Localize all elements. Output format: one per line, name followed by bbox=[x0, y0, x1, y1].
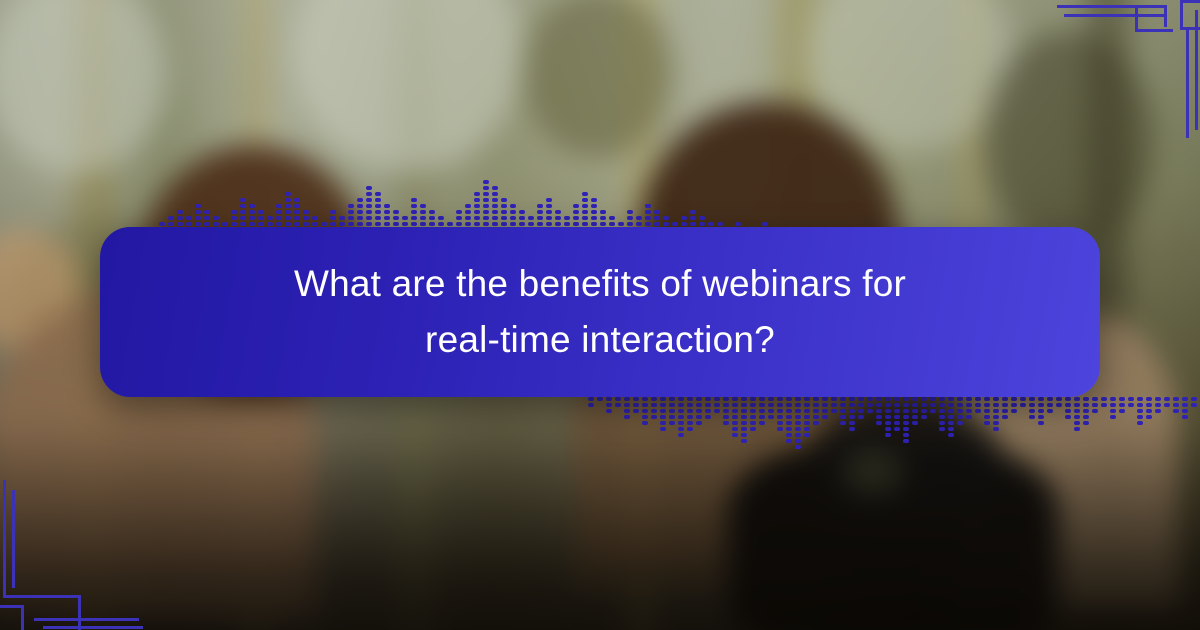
waveform-dot bbox=[741, 427, 747, 431]
waveform-dot bbox=[555, 222, 561, 226]
waveform-dot bbox=[600, 210, 606, 214]
waveform-dot bbox=[1128, 403, 1134, 407]
waveform-dot bbox=[966, 403, 972, 407]
waveform-dot bbox=[669, 409, 675, 413]
waveform-dot bbox=[642, 409, 648, 413]
waveform-dot bbox=[597, 397, 603, 401]
waveform-dot bbox=[591, 210, 597, 214]
waveform-dot bbox=[939, 403, 945, 407]
waveform-column bbox=[813, 397, 819, 425]
waveform-column bbox=[993, 397, 999, 431]
waveform-dot bbox=[195, 222, 201, 226]
waveform-dot bbox=[627, 222, 633, 226]
waveform-dot bbox=[1065, 397, 1071, 401]
waveform-dot bbox=[777, 415, 783, 419]
waveform-dot bbox=[903, 427, 909, 431]
waveform-dot bbox=[768, 397, 774, 401]
waveform-dot bbox=[717, 222, 723, 226]
waveform-dot bbox=[555, 210, 561, 214]
waveform-dot bbox=[678, 427, 684, 431]
waveform-dot bbox=[366, 216, 372, 220]
waveform-dot bbox=[786, 421, 792, 425]
waveform-dot bbox=[294, 210, 300, 214]
waveform-dot bbox=[429, 222, 435, 226]
waveform-column bbox=[876, 397, 882, 425]
waveform-dot bbox=[1155, 397, 1161, 401]
waveform-dot bbox=[687, 409, 693, 413]
waveform-dot bbox=[1119, 409, 1125, 413]
waveform-column bbox=[1191, 397, 1197, 407]
waveform-dot bbox=[249, 210, 255, 214]
waveform-dot bbox=[777, 403, 783, 407]
waveform-dot bbox=[564, 216, 570, 220]
waveform-dot bbox=[357, 216, 363, 220]
waveform-dot bbox=[1047, 409, 1053, 413]
waveform-dot bbox=[1110, 415, 1116, 419]
waveform-dot bbox=[966, 409, 972, 413]
waveform-dot bbox=[669, 421, 675, 425]
waveform-dot bbox=[660, 403, 666, 407]
waveform-dot bbox=[741, 421, 747, 425]
waveform-dot bbox=[492, 210, 498, 214]
waveform-dot bbox=[1002, 415, 1008, 419]
waveform-dot bbox=[375, 198, 381, 202]
waveform-dot bbox=[822, 403, 828, 407]
waveform-dot bbox=[687, 421, 693, 425]
frame-line-vertical bbox=[1195, 10, 1198, 130]
waveform-dot bbox=[591, 198, 597, 202]
waveform-dot bbox=[546, 222, 552, 226]
waveform-dot bbox=[822, 409, 828, 413]
frame-line-horizontal bbox=[1064, 14, 1167, 17]
waveform-column bbox=[375, 192, 381, 232]
waveform-dot bbox=[660, 397, 666, 401]
frame-line-vertical bbox=[3, 480, 6, 598]
waveform-dot bbox=[921, 403, 927, 407]
waveform-dot bbox=[750, 409, 756, 413]
waveform-dot bbox=[750, 403, 756, 407]
waveform-dot bbox=[939, 421, 945, 425]
waveform-dot bbox=[858, 403, 864, 407]
waveform-dot bbox=[186, 222, 192, 226]
waveform-dot bbox=[1029, 415, 1035, 419]
waveform-dot bbox=[384, 216, 390, 220]
waveform-dot bbox=[402, 222, 408, 226]
waveform-column bbox=[1038, 397, 1044, 425]
waveform-column bbox=[867, 397, 873, 413]
waveform-column bbox=[705, 397, 711, 419]
waveform-column bbox=[615, 397, 621, 407]
waveform-dot bbox=[375, 222, 381, 226]
waveform-dot bbox=[411, 198, 417, 202]
waveform-dot bbox=[663, 222, 669, 226]
waveform-dot bbox=[1083, 421, 1089, 425]
waveform-column bbox=[750, 397, 756, 431]
waveform-dot bbox=[1146, 415, 1152, 419]
audio-waveform-top bbox=[150, 142, 795, 232]
frame-line-vertical bbox=[1186, 28, 1189, 138]
waveform-dot bbox=[948, 433, 954, 437]
waveform-dot bbox=[420, 210, 426, 214]
waveform-dot bbox=[885, 409, 891, 413]
waveform-dot bbox=[768, 415, 774, 419]
waveform-column bbox=[588, 397, 594, 407]
waveform-dot bbox=[501, 222, 507, 226]
waveform-dot bbox=[624, 409, 630, 413]
waveform-dot bbox=[582, 192, 588, 196]
waveform-dot bbox=[204, 210, 210, 214]
waveform-dot bbox=[804, 403, 810, 407]
waveform-dot bbox=[1119, 403, 1125, 407]
waveform-dot bbox=[723, 415, 729, 419]
waveform-dot bbox=[312, 222, 318, 226]
waveform-dot bbox=[1173, 403, 1179, 407]
waveform-dot bbox=[939, 397, 945, 401]
waveform-dot bbox=[759, 397, 765, 401]
waveform-dot bbox=[984, 403, 990, 407]
waveform-dot bbox=[492, 186, 498, 190]
waveform-dot bbox=[510, 222, 516, 226]
waveform-dot bbox=[168, 216, 174, 220]
question-line-2: real-time interaction? bbox=[425, 319, 775, 360]
waveform-dot bbox=[750, 421, 756, 425]
waveform-dot bbox=[786, 415, 792, 419]
waveform-column bbox=[687, 397, 693, 431]
waveform-dot bbox=[285, 222, 291, 226]
waveform-dot bbox=[1020, 397, 1026, 401]
waveform-dot bbox=[894, 427, 900, 431]
waveform-column bbox=[768, 397, 774, 419]
waveform-dot bbox=[885, 415, 891, 419]
waveform-dot bbox=[642, 403, 648, 407]
waveform-dot bbox=[903, 403, 909, 407]
waveform-column bbox=[921, 397, 927, 419]
waveform-dot bbox=[786, 433, 792, 437]
waveform-dot bbox=[474, 198, 480, 202]
waveform-dot bbox=[231, 216, 237, 220]
waveform-dot bbox=[690, 216, 696, 220]
waveform-dot bbox=[591, 204, 597, 208]
waveform-dot bbox=[741, 433, 747, 437]
waveform-dot bbox=[681, 216, 687, 220]
waveform-dot bbox=[732, 409, 738, 413]
waveform-column bbox=[1002, 397, 1008, 419]
waveform-dot bbox=[813, 415, 819, 419]
frame-square bbox=[0, 605, 24, 630]
waveform-dot bbox=[669, 415, 675, 419]
waveform-column bbox=[1074, 397, 1080, 431]
waveform-dot bbox=[903, 421, 909, 425]
frame-line-horizontal bbox=[1135, 29, 1173, 32]
waveform-column bbox=[894, 397, 900, 431]
waveform-dot bbox=[705, 415, 711, 419]
waveform-dot bbox=[1002, 403, 1008, 407]
waveform-dot bbox=[1074, 397, 1080, 401]
waveform-dot bbox=[537, 216, 543, 220]
waveform-column bbox=[903, 397, 909, 443]
waveform-dot bbox=[1164, 397, 1170, 401]
waveform-dot bbox=[537, 210, 543, 214]
waveform-dot bbox=[660, 409, 666, 413]
waveform-dot bbox=[645, 210, 651, 214]
waveform-dot bbox=[492, 198, 498, 202]
waveform-dot bbox=[885, 421, 891, 425]
waveform-dot bbox=[948, 427, 954, 431]
waveform-dot bbox=[993, 421, 999, 425]
waveform-dot bbox=[984, 409, 990, 413]
waveform-dot bbox=[1047, 397, 1053, 401]
frame-line-vertical bbox=[12, 490, 15, 588]
waveform-dot bbox=[705, 403, 711, 407]
waveform-dot bbox=[1083, 409, 1089, 413]
waveform-dot bbox=[606, 397, 612, 401]
waveform-column bbox=[804, 397, 810, 437]
waveform-dot bbox=[786, 403, 792, 407]
waveform-dot bbox=[867, 403, 873, 407]
waveform-dot bbox=[930, 403, 936, 407]
waveform-dot bbox=[546, 204, 552, 208]
waveform-dot bbox=[465, 210, 471, 214]
waveform-dot bbox=[483, 210, 489, 214]
waveform-dot bbox=[501, 210, 507, 214]
waveform-dot bbox=[642, 397, 648, 401]
waveform-dot bbox=[474, 192, 480, 196]
waveform-dot bbox=[750, 415, 756, 419]
waveform-dot bbox=[177, 216, 183, 220]
waveform-dot bbox=[849, 427, 855, 431]
waveform-column bbox=[885, 397, 891, 437]
waveform-column bbox=[366, 186, 372, 232]
waveform-dot bbox=[240, 216, 246, 220]
waveform-dot bbox=[1146, 409, 1152, 413]
waveform-dot bbox=[258, 222, 264, 226]
waveform-dot bbox=[687, 415, 693, 419]
waveform-dot bbox=[786, 427, 792, 431]
waveform-dot bbox=[1083, 415, 1089, 419]
waveform-dot bbox=[1182, 415, 1188, 419]
waveform-dot bbox=[696, 403, 702, 407]
waveform-dot bbox=[939, 427, 945, 431]
waveform-dot bbox=[831, 409, 837, 413]
waveform-dot bbox=[651, 397, 657, 401]
waveform-dot bbox=[267, 216, 273, 220]
waveform-dot bbox=[600, 222, 606, 226]
waveform-column bbox=[1128, 397, 1134, 407]
waveform-dot bbox=[330, 210, 336, 214]
waveform-dot bbox=[660, 421, 666, 425]
waveform-column bbox=[1029, 397, 1035, 419]
waveform-dot bbox=[1029, 409, 1035, 413]
waveform-dot bbox=[519, 216, 525, 220]
waveform-column bbox=[678, 397, 684, 437]
waveform-dot bbox=[633, 409, 639, 413]
waveform-dot bbox=[357, 198, 363, 202]
waveform-dot bbox=[366, 198, 372, 202]
waveform-dot bbox=[1047, 403, 1053, 407]
waveform-dot bbox=[384, 204, 390, 208]
waveform-dot bbox=[357, 222, 363, 226]
waveform-dot bbox=[993, 427, 999, 431]
waveform-dot bbox=[1101, 397, 1107, 401]
waveform-dot bbox=[867, 397, 873, 401]
waveform-dot bbox=[696, 397, 702, 401]
waveform-dot bbox=[537, 204, 543, 208]
waveform-dot bbox=[1083, 403, 1089, 407]
waveform-dot bbox=[795, 397, 801, 401]
waveform-dot bbox=[939, 415, 945, 419]
waveform-dot bbox=[438, 222, 444, 226]
waveform-dot bbox=[177, 222, 183, 226]
waveform-dot bbox=[642, 421, 648, 425]
waveform-dot bbox=[492, 204, 498, 208]
waveform-dot bbox=[894, 415, 900, 419]
waveform-dot bbox=[1182, 397, 1188, 401]
waveform-dot bbox=[804, 433, 810, 437]
waveform-dot bbox=[456, 222, 462, 226]
waveform-column bbox=[606, 397, 612, 413]
waveform-dot bbox=[645, 222, 651, 226]
waveform-dot bbox=[687, 403, 693, 407]
waveform-dot bbox=[633, 397, 639, 401]
waveform-dot bbox=[804, 427, 810, 431]
waveform-dot bbox=[591, 216, 597, 220]
waveform-dot bbox=[1074, 415, 1080, 419]
waveform-dot bbox=[786, 409, 792, 413]
waveform-dot bbox=[483, 186, 489, 190]
waveform-dot bbox=[849, 421, 855, 425]
waveform-dot bbox=[195, 204, 201, 208]
waveform-dot bbox=[357, 210, 363, 214]
waveform-dot bbox=[573, 210, 579, 214]
waveform-column bbox=[759, 397, 765, 425]
waveform-dot bbox=[1074, 403, 1080, 407]
waveform-dot bbox=[840, 403, 846, 407]
waveform-dot bbox=[672, 222, 678, 226]
waveform-dot bbox=[249, 222, 255, 226]
waveform-dot bbox=[231, 222, 237, 226]
waveform-dot bbox=[903, 409, 909, 413]
waveform-dot bbox=[1173, 409, 1179, 413]
waveform-dot bbox=[705, 397, 711, 401]
waveform-dot bbox=[492, 216, 498, 220]
waveform-dot bbox=[204, 222, 210, 226]
waveform-dot bbox=[642, 415, 648, 419]
waveform-dot bbox=[759, 421, 765, 425]
waveform-dot bbox=[921, 409, 927, 413]
waveform-dot bbox=[366, 192, 372, 196]
waveform-dot bbox=[930, 409, 936, 413]
waveform-dot bbox=[885, 433, 891, 437]
waveform-dot bbox=[741, 415, 747, 419]
waveform-dot bbox=[645, 204, 651, 208]
waveform-dot bbox=[966, 397, 972, 401]
waveform-dot bbox=[1110, 397, 1116, 401]
waveform-dot bbox=[678, 433, 684, 437]
frame-line-horizontal bbox=[3, 595, 81, 598]
waveform-dot bbox=[795, 445, 801, 449]
waveform-dot bbox=[546, 198, 552, 202]
waveform-dot bbox=[1038, 403, 1044, 407]
waveform-dot bbox=[714, 403, 720, 407]
waveform-dot bbox=[258, 216, 264, 220]
waveform-dot bbox=[465, 222, 471, 226]
waveform-dot bbox=[867, 409, 873, 413]
frame-line-vertical bbox=[1135, 5, 1138, 32]
waveform-dot bbox=[735, 222, 741, 226]
waveform-dot bbox=[750, 427, 756, 431]
waveform-dot bbox=[285, 198, 291, 202]
waveform-dot bbox=[813, 421, 819, 425]
waveform-dot bbox=[786, 397, 792, 401]
waveform-dot bbox=[186, 216, 192, 220]
waveform-dot bbox=[195, 216, 201, 220]
waveform-dot bbox=[1155, 403, 1161, 407]
waveform-dot bbox=[699, 216, 705, 220]
waveform-dot bbox=[1056, 397, 1062, 401]
waveform-dot bbox=[795, 421, 801, 425]
waveform-dot bbox=[303, 210, 309, 214]
waveform-dot bbox=[723, 409, 729, 413]
waveform-dot bbox=[732, 403, 738, 407]
foliage-patch bbox=[984, 31, 1154, 251]
waveform-dot bbox=[876, 415, 882, 419]
waveform-dot bbox=[687, 427, 693, 431]
waveform-dot bbox=[831, 403, 837, 407]
waveform-dot bbox=[795, 433, 801, 437]
waveform-dot bbox=[957, 409, 963, 413]
waveform-dot bbox=[741, 439, 747, 443]
waveform-dot bbox=[975, 397, 981, 401]
waveform-dot bbox=[876, 421, 882, 425]
waveform-dot bbox=[573, 204, 579, 208]
waveform-dot bbox=[894, 397, 900, 401]
waveform-dot bbox=[822, 415, 828, 419]
waveform-dot bbox=[402, 216, 408, 220]
waveform-dot bbox=[177, 210, 183, 214]
waveform-dot bbox=[1056, 403, 1062, 407]
waveform-dot bbox=[357, 204, 363, 208]
waveform-dot bbox=[618, 222, 624, 226]
waveform-dot bbox=[483, 216, 489, 220]
waveform-dot bbox=[420, 204, 426, 208]
waveform-dot bbox=[195, 210, 201, 214]
waveform-dot bbox=[546, 210, 552, 214]
waveform-dot bbox=[573, 222, 579, 226]
waveform-dot bbox=[777, 421, 783, 425]
waveform-column bbox=[582, 192, 588, 232]
waveform-column bbox=[1182, 397, 1188, 419]
waveform-dot bbox=[795, 427, 801, 431]
waveform-dot bbox=[1155, 409, 1161, 413]
waveform-dot bbox=[348, 210, 354, 214]
question-card[interactable]: What are the benefits of webinars for re… bbox=[100, 227, 1100, 397]
waveform-column bbox=[795, 397, 801, 449]
waveform-dot bbox=[321, 222, 327, 226]
frame-line-vertical bbox=[78, 595, 81, 630]
waveform-dot bbox=[465, 216, 471, 220]
waveform-dot bbox=[651, 403, 657, 407]
waveform-dot bbox=[609, 222, 615, 226]
waveform-dot bbox=[696, 421, 702, 425]
waveform-dot bbox=[732, 397, 738, 401]
waveform-dot bbox=[582, 210, 588, 214]
waveform-dot bbox=[204, 216, 210, 220]
waveform-column bbox=[948, 397, 954, 437]
waveform-dot bbox=[285, 192, 291, 196]
waveform-dot bbox=[714, 409, 720, 413]
waveform-dot bbox=[375, 216, 381, 220]
waveform-column bbox=[786, 397, 792, 443]
